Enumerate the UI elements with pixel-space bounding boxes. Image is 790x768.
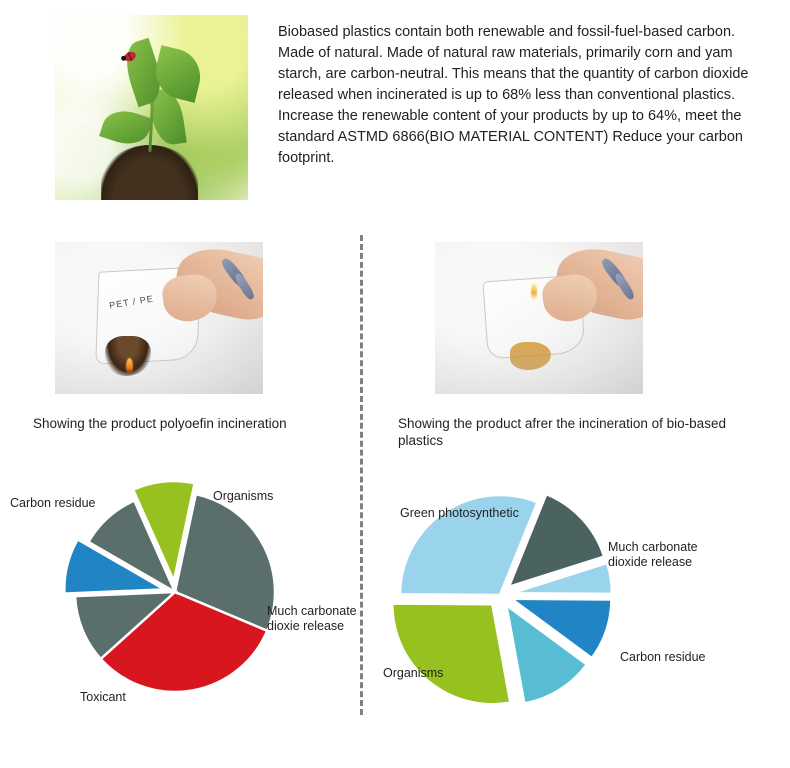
seedling-photo xyxy=(55,15,248,200)
pie-left-label-much-carbonate: Much carbonate dioxie release xyxy=(267,604,357,634)
intro-paragraph: Biobased plastics contain both renewable… xyxy=(278,22,756,169)
pie-right-label-carbon-residue: Carbon residue xyxy=(620,650,705,665)
product-info-page: Biobased plastics contain both renewable… xyxy=(0,0,790,768)
pie-left-slices xyxy=(64,481,275,692)
intro-text-block: Biobased plastics contain both renewable… xyxy=(278,22,756,169)
polyolefin-incineration-photo: PET / PE xyxy=(55,242,263,394)
flame-icon xyxy=(531,283,537,300)
flame-icon xyxy=(126,358,133,374)
pie-left-label-carbon-residue: Carbon residue xyxy=(10,496,95,511)
pie-slice xyxy=(392,603,510,704)
caption-right: Showing the product afrer the incinerati… xyxy=(398,415,728,449)
pie-right-label-much-carbonate: Much carbonate dioxide release xyxy=(608,540,698,570)
pie-left-label-toxicant: Toxicant xyxy=(80,690,126,705)
caption-left: Showing the product polyoefin incinerati… xyxy=(33,415,353,432)
pie-left-label-organisms: Organisms xyxy=(213,489,273,504)
pie-right-label-organisms: Organisms xyxy=(383,666,443,681)
pie-chart-polyolefin: Carbon residue Organisms Much carbonate … xyxy=(0,470,365,720)
pie-right-label-green-photosynthetic: Green photosynthetic xyxy=(400,506,519,521)
biobased-incineration-photo xyxy=(435,242,643,394)
pie-chart-biobased: Green photosynthetic Much carbonate diox… xyxy=(370,470,790,720)
